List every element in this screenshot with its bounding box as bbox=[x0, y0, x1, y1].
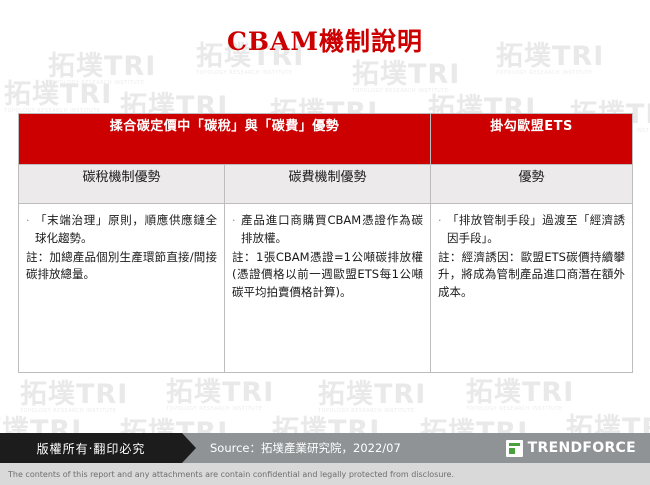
cell-eu-ets: ‧ 「排放管制手段」過渡至「經濟誘因手段」。 註：經濟誘因：歐盟ETS碳價持續攀… bbox=[431, 204, 633, 373]
slide-root: 拓墣TRITOPOLOGY RESEARCH INSTITUTE 拓墣TRITO… bbox=[0, 0, 650, 485]
watermark: 拓墣TRITOPOLOGY RESEARCH INSTITUTE bbox=[20, 372, 128, 414]
trendforce-logo-icon bbox=[506, 440, 523, 457]
table-subheader-row: 碳稅機制優勢 碳費機制優勢 優勢 bbox=[19, 165, 633, 204]
bullet-text: 「末端治理」原則，順應供應鏈全球化趨勢。 bbox=[35, 212, 217, 248]
source-note: Source：拓墣產業研究院，2022/07 bbox=[210, 433, 401, 463]
table-body-row: ‧ 「末端治理」原則，順應供應鏈全球化趨勢。 註：加總產品個別生產環節直接/間接… bbox=[19, 204, 633, 373]
watermark: 拓墣TRITOPOLOGY RESEARCH INSTITUTE bbox=[318, 372, 426, 414]
watermark: 拓墣TRITOPOLOGY RESEARCH INSTITUTE bbox=[466, 370, 574, 412]
watermark: 拓墣TRITOPOLOGY RESEARCH INSTITUTE bbox=[166, 370, 274, 412]
subheader-carbon-fee: 碳費機制優勢 bbox=[225, 165, 431, 204]
brand-logo: TRENDFORCE bbox=[506, 433, 636, 463]
watermark: 拓墣TRITOPOLOGY RESEARCH INSTITUTE bbox=[4, 72, 112, 114]
note-text: 註：1張CBAM憑證=1公噸碳排放權(憑證價格以前一週歐盟ETS每1公噸碳平均拍… bbox=[232, 249, 423, 302]
bullet-text: 「排放管制手段」過渡至「經濟誘因手段」。 bbox=[447, 212, 625, 248]
page-title: CBAM機制說明 bbox=[0, 22, 650, 58]
bullet-item: ‧ 產品進口商購買CBAM憑證作為碳排放權。 bbox=[232, 212, 423, 248]
content-table: 揉合碳定價中「碳稅」與「碳費」優勢 掛勾歐盟ETS 碳稅機制優勢 碳費機制優勢 … bbox=[18, 113, 632, 373]
note-text: 註：加總產品個別生產環節直接/間接碳排放總量。 bbox=[26, 249, 217, 285]
cell-carbon-fee: ‧ 產品進口商購買CBAM憑證作為碳排放權。 註：1張CBAM憑證=1公噸碳排放… bbox=[225, 204, 431, 373]
disclaimer-bar: The contents of this report and any atta… bbox=[0, 463, 650, 485]
header-group-eu-ets: 掛勾歐盟ETS bbox=[431, 114, 633, 165]
bullet-item: ‧ 「排放管制手段」過渡至「經濟誘因手段」。 bbox=[438, 212, 625, 248]
copyright-banner: 版權所有‧翻印必究 bbox=[0, 433, 182, 463]
header-group-carbon-pricing: 揉合碳定價中「碳稅」與「碳費」優勢 bbox=[19, 114, 431, 165]
subheader-carbon-tax: 碳稅機制優勢 bbox=[19, 165, 225, 204]
table-header-row: 揉合碳定價中「碳稅」與「碳費」優勢 掛勾歐盟ETS bbox=[19, 114, 633, 165]
cell-carbon-tax: ‧ 「末端治理」原則，順應供應鏈全球化趨勢。 註：加總產品個別生產環節直接/間接… bbox=[19, 204, 225, 373]
bullet-text: 產品進口商購買CBAM憑證作為碳排放權。 bbox=[241, 212, 423, 248]
bullet-dot-icon: ‧ bbox=[26, 212, 35, 229]
bullet-dot-icon: ‧ bbox=[438, 212, 447, 229]
note-text: 註：經濟誘因：歐盟ETS碳價持續攀升，將成為管制產品進口商潛在額外成本。 bbox=[438, 249, 625, 302]
bullet-dot-icon: ‧ bbox=[232, 212, 241, 229]
watermark: 拓墣TRITOPOLOGY RESEARCH INSTITUTE bbox=[352, 52, 460, 94]
brand-name: TRENDFORCE bbox=[528, 440, 636, 456]
subheader-advantage: 優勢 bbox=[431, 165, 633, 204]
bullet-item: ‧ 「末端治理」原則，順應供應鏈全球化趨勢。 bbox=[26, 212, 217, 248]
